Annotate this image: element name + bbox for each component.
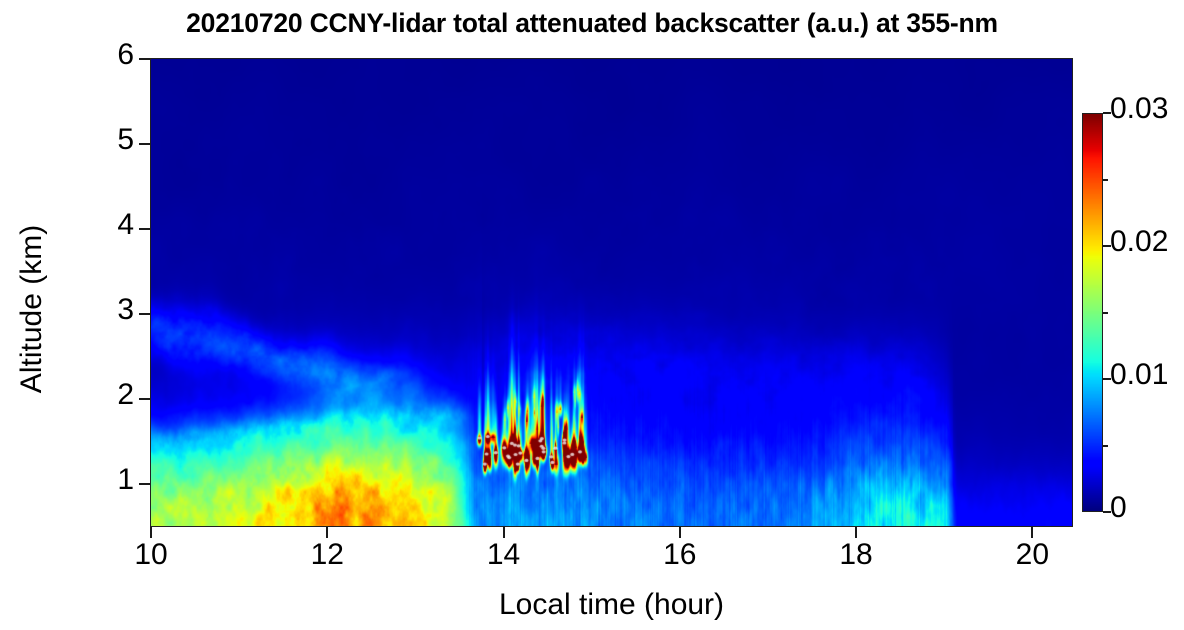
y-tick-label-3: 3 [74, 295, 134, 325]
x-tick-16 [679, 527, 681, 538]
y-tick-2 [139, 398, 150, 400]
page-title: 20210720 CCNY-lidar total attenuated bac… [0, 8, 1184, 39]
x-tick-label-10: 10 [111, 540, 191, 570]
y-tick-1 [139, 483, 150, 485]
x-tick-18 [855, 527, 857, 538]
colorbar-label-0.02: 0.02 [1110, 227, 1168, 257]
colorbar-minor-tick [1103, 179, 1108, 181]
y-tick-label-2: 2 [74, 380, 134, 410]
y-tick-4 [139, 228, 150, 230]
backscatter-heatmap-canvas [151, 59, 1072, 526]
x-tick-label-14: 14 [464, 540, 544, 570]
y-tick-label-5: 5 [74, 125, 134, 155]
x-tick-label-18: 18 [816, 540, 896, 570]
x-tick-label-12: 12 [287, 540, 367, 570]
x-axis-label: Local time (hour) [150, 588, 1073, 622]
heatmap-plot-area [150, 58, 1073, 527]
x-tick-12 [326, 527, 328, 538]
y-tick-5 [139, 143, 150, 145]
y-tick-6 [139, 58, 150, 60]
y-axis-label: Altitude (km) [15, 144, 49, 474]
x-tick-label-20: 20 [992, 540, 1072, 570]
x-tick-label-16: 16 [640, 540, 720, 570]
colorbar-label-0: 0 [1110, 493, 1127, 523]
y-tick-3 [139, 313, 150, 315]
colorbar [1082, 113, 1103, 512]
y-tick-label-1: 1 [74, 465, 134, 495]
x-tick-14 [503, 527, 505, 538]
colorbar-minor-tick [1103, 312, 1108, 314]
colorbar-label-0.01: 0.01 [1110, 360, 1168, 390]
x-tick-20 [1031, 527, 1033, 538]
y-tick-label-6: 6 [74, 40, 134, 70]
y-tick-label-4: 4 [74, 210, 134, 240]
lidar-backscatter-figure: 20210720 CCNY-lidar total attenuated bac… [0, 0, 1184, 630]
colorbar-minor-tick [1103, 445, 1108, 447]
x-tick-10 [150, 527, 152, 538]
colorbar-label-0.03: 0.03 [1110, 94, 1168, 124]
colorbar-gradient [1083, 114, 1102, 511]
